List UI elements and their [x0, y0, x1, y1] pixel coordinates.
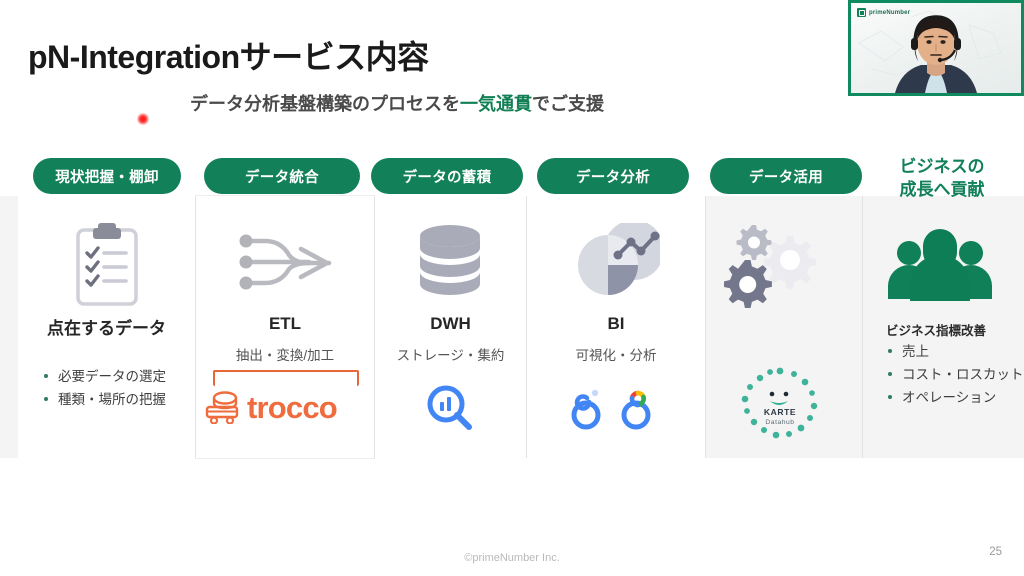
business-growth-heading: ビジネスの 成長へ貢献	[872, 156, 1012, 201]
stage-pill-label: データの蓄積	[403, 166, 492, 187]
stage-pill-label: 現状把握・棚卸	[55, 166, 159, 187]
primenumber-logo-badge: primeNumber	[857, 8, 910, 17]
list-item: コスト・ロスカット	[886, 363, 1024, 386]
trocco-wordmark: trocco	[247, 392, 337, 423]
pie-chart-line-graph-icon	[572, 220, 662, 308]
webcam-overlay[interactable]: primeNumber	[848, 0, 1024, 96]
list-item: 種類・場所の把握	[42, 388, 166, 411]
slide-canvas: pN-Integrationサービス内容 データ分析基盤構築のプロセスを一気通貫…	[0, 0, 1024, 576]
column-title-bi: BI	[527, 314, 705, 334]
primenumber-logo-icon	[857, 8, 866, 17]
footer-copyright: ©primeNumber Inc.	[0, 552, 1024, 564]
google-bigquery-icon	[420, 382, 480, 434]
subtitle-highlight: 一気通貫	[460, 94, 532, 114]
column-subtitle-dwh: ストレージ・集約	[369, 344, 532, 364]
svg-text:Datahub: Datahub	[765, 419, 794, 426]
column-subtitle-etl: 抽出・変換/加工	[196, 344, 374, 364]
business-growth-line-2: 成長へ貢献	[872, 179, 1012, 202]
current-state-bullet-list: 必要データの選定 種類・場所の把握	[42, 365, 166, 411]
outcomes-bullet-list: 売上 コスト・ロスカット オペレーション	[886, 340, 1024, 410]
column-subtitle-bi: 可視化・分析	[527, 344, 705, 364]
list-item: オペレーション	[886, 386, 1024, 409]
outcomes-heading: ビジネス指標改善	[886, 320, 986, 339]
karte-datahub-icon: KARTE Datahub	[732, 365, 828, 447]
trocco-logo: trocco	[203, 386, 369, 428]
clipboard-checklist-icon	[62, 218, 152, 310]
trocco-cart-icon	[203, 390, 243, 424]
column-title-etl: ETL	[196, 314, 374, 334]
stage-pill-data-integration[interactable]: データ統合	[204, 158, 360, 194]
google-analytics-icon	[613, 382, 663, 432]
trocco-highlight-bracket	[213, 370, 359, 386]
stage-pill-label: データ統合	[245, 166, 319, 187]
svg-text:KARTE: KARTE	[764, 407, 796, 417]
column-title-dwh: DWH	[375, 314, 526, 334]
gears-icon	[722, 218, 832, 310]
business-growth-line-1: ビジネスの	[872, 156, 1012, 179]
primenumber-badge-label: primeNumber	[869, 10, 910, 16]
page-number: 25	[989, 546, 1002, 558]
stage-pill-data-analysis[interactable]: データ分析	[537, 158, 689, 194]
page-title: pN-Integrationサービス内容	[28, 32, 429, 78]
laser-pointer-dot	[137, 113, 149, 125]
subtitle-part-2: でご支援	[532, 94, 604, 114]
people-group-icon	[880, 222, 1000, 308]
list-item: 売上	[886, 340, 1024, 363]
stage-pill-label: データ活用	[749, 166, 823, 187]
stage-pill-data-utilization[interactable]: データ活用	[710, 158, 862, 194]
column-divider-4	[705, 196, 706, 458]
subtitle-part-1: データ分析基盤構築のプロセスを	[190, 94, 460, 114]
stage-pill-label: データ分析	[576, 166, 650, 187]
stage-pill-current-state[interactable]: 現状把握・棚卸	[33, 158, 181, 194]
database-cylinder-icon	[408, 220, 492, 308]
column-divider-5	[862, 196, 863, 458]
column-title-current-state: 点在するデータ	[18, 314, 195, 339]
google-looker-studio-icon	[563, 382, 613, 432]
merge-arrows-icon	[235, 222, 335, 302]
stage-pill-data-storage[interactable]: データの蓄積	[371, 158, 523, 194]
list-item: 必要データの選定	[42, 365, 166, 388]
